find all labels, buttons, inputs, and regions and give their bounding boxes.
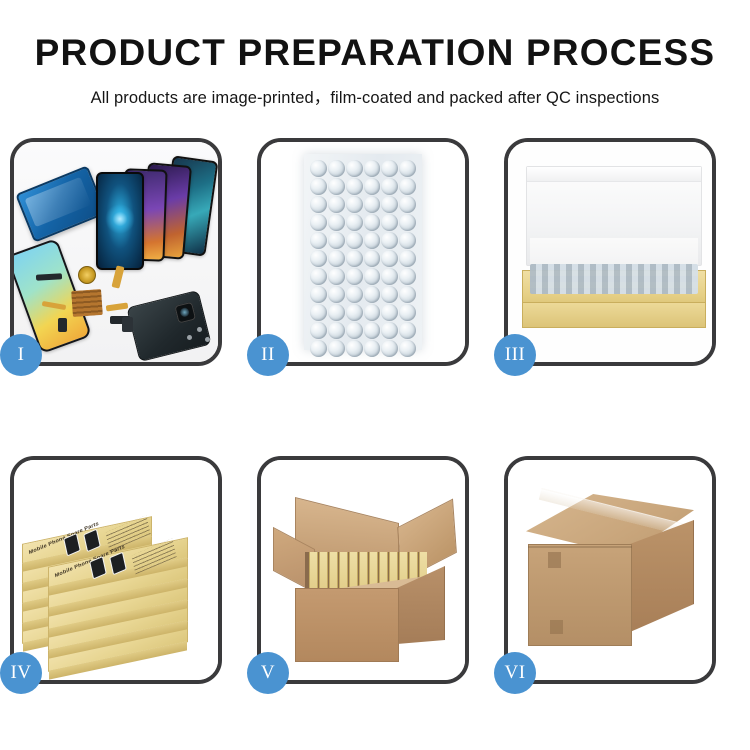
step-image-3 [508, 142, 712, 362]
scene-open-mailer [508, 142, 712, 362]
bubble-grid [310, 160, 416, 344]
step-badge-2: II [247, 334, 289, 376]
bubble-icon [399, 340, 416, 357]
bubble-icon [346, 196, 363, 213]
bubble-icon [328, 304, 345, 321]
battery-icon [122, 317, 133, 332]
bubble-icon [328, 232, 345, 249]
bubble-icon [399, 286, 416, 303]
bubble-icon [399, 196, 416, 213]
bubble-icon [364, 178, 381, 195]
header: PRODUCT PREPARATION PROCESS All products… [0, 0, 750, 108]
bubble-icon [399, 178, 416, 195]
bubble-icon [399, 322, 416, 339]
step-card-5: V [257, 456, 469, 684]
scene-spare-parts [14, 142, 218, 362]
step-badge-1: I [0, 334, 42, 376]
step-card-3: III [504, 138, 716, 366]
bubble-icon [364, 340, 381, 357]
bubble-icon [381, 214, 398, 231]
bubble-icon [310, 322, 327, 339]
step-image-2 [261, 142, 465, 362]
phone-back-housing-icon [126, 290, 211, 362]
bubble-icon [328, 340, 345, 357]
lcd-flex-panel-icon [15, 165, 107, 242]
step-card-1: I [10, 138, 222, 366]
camera-module-icon [174, 302, 196, 324]
mailer-front-panel-icon [522, 302, 706, 328]
bubble-icon [346, 178, 363, 195]
bubble-icon [310, 340, 327, 357]
bubble-icon [346, 232, 363, 249]
bubble-icon [364, 214, 381, 231]
bubble-icon [381, 178, 398, 195]
bubble-icon [381, 160, 398, 177]
bubble-icon [310, 196, 327, 213]
bubble-icon [346, 304, 363, 321]
bubble-icon [364, 160, 381, 177]
bubble-icon [328, 160, 345, 177]
bubble-icon [346, 322, 363, 339]
bubble-icon [381, 196, 398, 213]
bubble-icon [381, 286, 398, 303]
bubble-icon [399, 250, 416, 267]
bubble-icon [346, 160, 363, 177]
bubble-icon [328, 178, 345, 195]
bubble-icon [399, 232, 416, 249]
steps-grid: I II [10, 138, 740, 684]
bubble-icon [310, 232, 327, 249]
bubble-icon [381, 232, 398, 249]
carton-tab-icon [548, 552, 561, 568]
bubble-icon [328, 196, 345, 213]
step-badge-6: VI [494, 652, 536, 694]
bubble-icon [364, 286, 381, 303]
bubble-wrapped-contents-icon [530, 264, 698, 294]
bubble-icon [310, 178, 327, 195]
bubble-icon [328, 250, 345, 267]
step-image-5 [261, 460, 465, 680]
bubble-icon [310, 250, 327, 267]
page-title: PRODUCT PREPARATION PROCESS [0, 34, 750, 73]
step-image-6 [508, 460, 712, 680]
step-card-2: II [257, 138, 469, 366]
screw-icon [197, 327, 202, 332]
bubble-icon [328, 268, 345, 285]
step-card-6: VI [504, 456, 716, 684]
bubble-icon [328, 286, 345, 303]
bubble-icon [346, 340, 363, 357]
step-image-4: Mobile Phone Spare PartsMobile Phone Spa… [14, 460, 218, 680]
flex-cable-icon [106, 302, 129, 311]
screw-icon [205, 337, 210, 342]
bubble-icon [399, 304, 416, 321]
bubble-icon [364, 304, 381, 321]
bubble-wrap-pouch-icon [304, 154, 422, 350]
bubble-icon [328, 214, 345, 231]
step-badge-5: V [247, 652, 289, 694]
small-part-icon [58, 318, 67, 332]
bubble-icon [310, 160, 327, 177]
carton-front-panel-icon [528, 544, 632, 646]
bubble-icon [364, 268, 381, 285]
step-badge-4: IV [0, 652, 42, 694]
scene-open-carton [261, 460, 465, 680]
bubble-icon [328, 322, 345, 339]
bubble-icon [310, 304, 327, 321]
carton-tab-icon [550, 620, 563, 634]
bubble-icon [364, 250, 381, 267]
screw-icon [187, 335, 192, 340]
step-image-1 [14, 142, 218, 362]
bubble-icon [310, 268, 327, 285]
page-subtitle: All products are image-printed，film-coat… [0, 84, 750, 108]
copper-grid-icon [71, 289, 103, 317]
scene-stacked-boxes: Mobile Phone Spare PartsMobile Phone Spa… [14, 460, 218, 680]
bubble-icon [346, 286, 363, 303]
scene-bubble-wrap [261, 142, 465, 362]
bubble-icon [346, 268, 363, 285]
phone-screen-icon [96, 172, 144, 270]
bubble-icon [364, 196, 381, 213]
step-card-4: Mobile Phone Spare PartsMobile Phone Spa… [10, 456, 222, 684]
bubble-icon [346, 214, 363, 231]
bubble-icon [310, 286, 327, 303]
carton-seam-icon [528, 546, 632, 548]
step-badge-3: III [494, 334, 536, 376]
bubble-icon [381, 250, 398, 267]
bubble-icon [399, 160, 416, 177]
carton-front-panel-icon [295, 588, 399, 662]
bubble-icon [381, 304, 398, 321]
bubble-icon [364, 322, 381, 339]
speaker-coil-icon [78, 266, 96, 284]
bubble-icon [310, 214, 327, 231]
scene-sealed-carton [508, 460, 712, 680]
bubble-icon [399, 214, 416, 231]
bubble-icon [399, 268, 416, 285]
bubble-icon [346, 250, 363, 267]
product-preparation-infographic: PRODUCT PREPARATION PROCESS All products… [0, 0, 750, 750]
bubble-icon [381, 268, 398, 285]
bubble-icon [381, 322, 398, 339]
bubble-icon [364, 232, 381, 249]
bubble-icon [381, 340, 398, 357]
